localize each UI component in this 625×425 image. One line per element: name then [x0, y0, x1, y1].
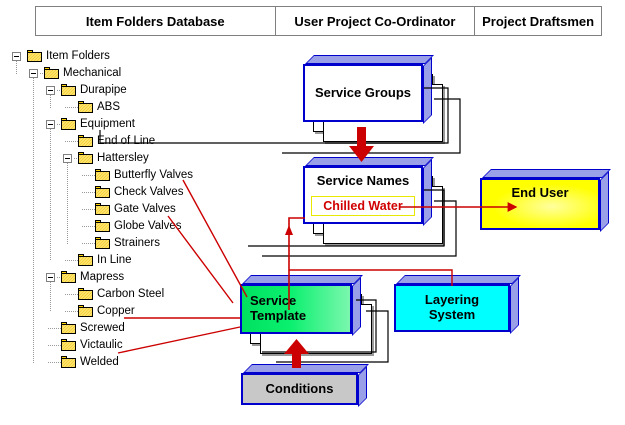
tree-item-label: Durapipe [80, 84, 127, 96]
tree-connector [65, 107, 78, 108]
chip-text: Chilled Water [323, 199, 402, 213]
tree-item-label: Mapress [80, 271, 124, 283]
tree-connector [82, 175, 95, 176]
node-text: Service Template [250, 294, 306, 324]
tree-item-carbon-steel[interactable]: Carbon Steel [8, 286, 258, 303]
tree-item-durapipe[interactable]: Durapipe [8, 82, 258, 99]
node-conditions[interactable]: Conditions [241, 373, 358, 405]
tree-item-abs[interactable]: ABS [8, 99, 258, 116]
tree-item-label: Screwed [80, 322, 125, 334]
node-service-template[interactable]: Service Template [240, 284, 352, 334]
tree-connector [50, 129, 51, 261]
tree-item-label: Hattersley [97, 152, 149, 164]
node-label-conditions: Conditions [241, 373, 358, 405]
tree-item-screwed[interactable]: Screwed [8, 320, 258, 337]
tree-item-label: In Line [97, 254, 132, 266]
box-top-face [482, 169, 611, 178]
tree-item-label: Carbon Steel [97, 288, 164, 300]
tree-item-label: Check Valves [114, 186, 183, 198]
node-service-names[interactable]: Service Names Chilled Water [303, 166, 423, 224]
node-label-service-template: Service Template [240, 284, 352, 334]
folder-icon [61, 84, 76, 96]
folder-icon [78, 152, 93, 164]
folder-icon [61, 118, 76, 130]
folder-icon [78, 288, 93, 300]
tree-connector [65, 294, 78, 295]
box-right-face [423, 57, 432, 124]
tree-connector [65, 311, 78, 312]
node-text: Conditions [266, 382, 334, 397]
folder-icon [61, 322, 76, 334]
tree-item-copper[interactable]: Copper [8, 303, 258, 320]
minus-box-icon[interactable] [12, 52, 21, 61]
tree-connector [48, 362, 61, 363]
box-right-face [600, 171, 609, 232]
folder-icon [61, 271, 76, 283]
minus-box-icon[interactable] [46, 86, 55, 95]
tree-item-globe-valves[interactable]: Globe Valves [8, 218, 258, 235]
folder-icon [44, 67, 59, 79]
tree-item-label: Equipment [80, 118, 135, 130]
minus-box-icon[interactable] [46, 120, 55, 129]
tree-item-in-line[interactable]: In Line [8, 252, 258, 269]
folder-icon [78, 254, 93, 266]
tree-item-end-of-line[interactable]: End of Line [8, 133, 258, 150]
box-top-face [305, 157, 434, 166]
tree-item-item-folders[interactable]: Item Folders [8, 48, 258, 65]
node-label-layering-system: Layering System [394, 284, 510, 332]
header-cell-user-project-co-ordinator: User Project Co-Ordinator [276, 7, 476, 35]
folder-icon [95, 169, 110, 181]
folder-icon [95, 220, 110, 232]
tree-connector [50, 282, 51, 312]
tree-item-check-valves[interactable]: Check Valves [8, 184, 258, 201]
tree-connector [82, 243, 95, 244]
folder-icon [78, 101, 93, 113]
box-top-face [305, 55, 434, 64]
tree-item-label: ABS [97, 101, 120, 113]
box-top-face [243, 364, 369, 373]
box-right-face [352, 277, 361, 336]
tree-connector [65, 141, 78, 142]
tree-connector [82, 209, 95, 210]
node-text: Service Groups [315, 86, 411, 101]
tree-item-mapress[interactable]: Mapress [8, 269, 258, 286]
header-cell-item-folders-database: Item Folders Database [36, 7, 276, 35]
tree-connector [48, 345, 61, 346]
tree-connector [67, 163, 68, 244]
folder-icon [95, 237, 110, 249]
diagram-canvas: Item Folders Database User Project Co-Or… [0, 0, 625, 425]
node-text: End User [511, 186, 568, 201]
header-table: Item Folders Database User Project Co-Or… [35, 6, 602, 36]
tree-item-victaulic[interactable]: Victaulic [8, 337, 258, 354]
tree-item-label: Copper [97, 305, 135, 317]
tree-item-label: Item Folders [46, 50, 110, 62]
tree-item-butterfly-valves[interactable]: Butterfly Valves [8, 167, 258, 184]
item-folders-tree[interactable]: Item FoldersMechanicalDurapipeABSEquipme… [8, 48, 258, 371]
tree-item-hattersley[interactable]: Hattersley [8, 150, 258, 167]
box-top-face [242, 275, 363, 284]
minus-box-icon[interactable] [29, 69, 38, 78]
node-service-groups[interactable]: Service Groups [303, 64, 423, 122]
tree-connector [48, 328, 61, 329]
minus-box-icon[interactable] [46, 273, 55, 282]
tree-item-label: End of Line [97, 135, 155, 147]
tree-item-label: Welded [80, 356, 119, 368]
tree-item-label: Strainers [114, 237, 160, 249]
chip-chilled-water[interactable]: Chilled Water [311, 196, 415, 216]
node-text: Service Names [317, 174, 410, 189]
node-label-service-groups: Service Groups [303, 64, 423, 122]
node-layering-system[interactable]: Layering System [394, 284, 510, 332]
tree-item-equipment[interactable]: Equipment [8, 116, 258, 133]
tree-item-mechanical[interactable]: Mechanical [8, 65, 258, 82]
node-end-user[interactable]: End User [480, 178, 600, 230]
node-text: Layering System [425, 293, 479, 323]
tree-connector [65, 260, 78, 261]
tree-connector [33, 78, 34, 363]
tree-connector [16, 61, 17, 74]
box-right-face [358, 366, 367, 407]
box-right-face [510, 277, 519, 334]
minus-box-icon[interactable] [63, 154, 72, 163]
header-cell-project-draftsmen: Project Draftsmen [475, 7, 601, 35]
tree-connector [82, 192, 95, 193]
tree-item-label: Globe Valves [114, 220, 182, 232]
folder-icon [78, 135, 93, 147]
tree-item-welded[interactable]: Welded [8, 354, 258, 371]
folder-icon [95, 203, 110, 215]
tree-item-label: Mechanical [63, 67, 121, 79]
tree-connector [50, 95, 51, 108]
folder-icon [27, 50, 42, 62]
folder-icon [95, 186, 110, 198]
folder-icon [78, 305, 93, 317]
tree-item-strainers[interactable]: Strainers [8, 235, 258, 252]
tree-item-label: Victaulic [80, 339, 123, 351]
tree-item-label: Gate Valves [114, 203, 176, 215]
folder-icon [61, 356, 76, 368]
box-right-face [423, 159, 432, 226]
tree-connector [82, 226, 95, 227]
node-label-end-user: End User [480, 178, 600, 230]
tree-item-gate-valves[interactable]: Gate Valves [8, 201, 258, 218]
folder-icon [61, 339, 76, 351]
box-top-face [396, 275, 521, 284]
tree-item-label: Butterfly Valves [114, 169, 193, 181]
